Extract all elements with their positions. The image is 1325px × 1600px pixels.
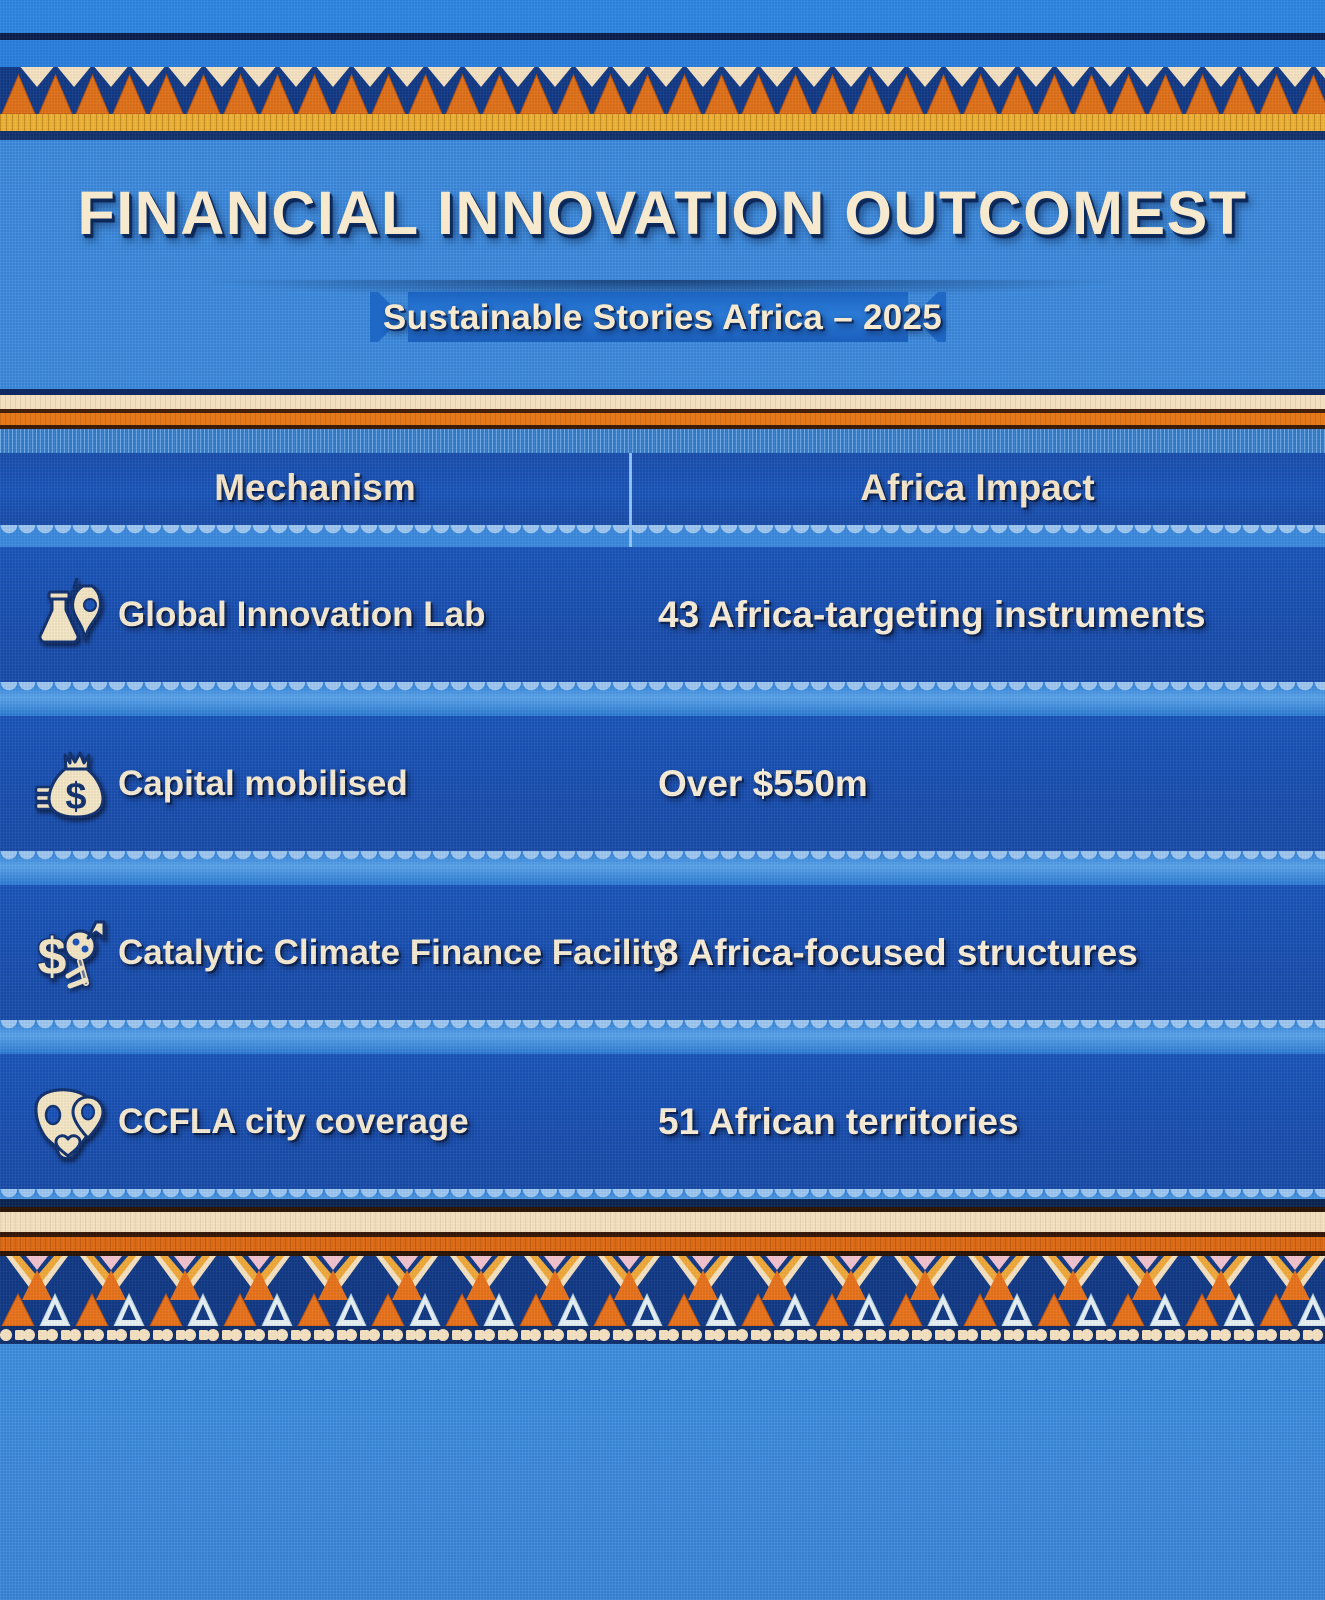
top-navy-line-1 [0, 33, 1325, 40]
cell-africa-impact: Over $550m [630, 716, 1325, 851]
bottom-dots-svg [0, 1326, 1325, 1344]
row-separator [0, 851, 1325, 885]
mechanism-label: CCFLA city coverage [118, 1102, 469, 1142]
row-separator [0, 682, 1325, 716]
row-separator-scallop [0, 682, 1325, 704]
cell-africa-impact: 8 Africa-focused structures [630, 885, 1325, 1020]
top-border-pattern [0, 0, 1325, 140]
top-navy-line-2 [0, 131, 1325, 140]
mid-divider [0, 389, 1325, 429]
page-subtitle: Sustainable Stories Africa – 2025 [0, 298, 1325, 338]
footer-weave-texture [0, 1344, 1325, 1600]
data-table: Mechanism Africa Impact Global Innovatio… [0, 429, 1325, 1199]
bottom-border-pattern [0, 1199, 1325, 1344]
bottom-orange-band [0, 1237, 1325, 1251]
mechanism-label: Capital mobilised [118, 764, 408, 804]
cell-africa-impact: 43 Africa-targeting instruments [630, 547, 1325, 682]
row-separator-scallop [0, 851, 1325, 873]
impact-value: Over $550m [658, 763, 868, 805]
impact-value: 43 Africa-targeting instruments [658, 594, 1206, 636]
row-separator-scallop [0, 1020, 1325, 1042]
mechanism-label: Global Innovation Lab [118, 595, 486, 635]
top-blue-band-lower [0, 40, 1325, 67]
table-row[interactable]: $ Catalytic Climate Finance Facility8 Af… [0, 885, 1325, 1020]
bottom-cream-band [0, 1212, 1325, 1232]
page-title: FINANCIAL INNOVATION OUTCOMEST [0, 178, 1325, 248]
footer-fabric-area [0, 1344, 1325, 1600]
infographic-page: FINANCIAL INNOVATION OUTCOMEST Sustainab… [0, 0, 1325, 1600]
impact-value: 8 Africa-focused structures [658, 932, 1138, 974]
column-header-africa-impact: Africa Impact [630, 467, 1325, 509]
top-blue-band-upper [0, 0, 1325, 33]
bottom-navy-line [0, 1199, 1325, 1207]
cell-mechanism: Global Innovation Lab [0, 547, 630, 682]
table-top-light-band [0, 429, 1325, 453]
cell-mechanism: Catalytic Climate Finance Facility [0, 885, 630, 1020]
table-body: Global Innovation Lab43 Africa-targeting… [0, 525, 1325, 1223]
bottom-kente-svg [0, 1256, 1325, 1326]
row-separator [0, 1020, 1325, 1054]
table-row[interactable]: Global Innovation Lab43 Africa-targeting… [0, 547, 1325, 682]
bottom-kente-band [0, 1256, 1325, 1326]
cell-mechanism: Capital mobilised [0, 716, 630, 851]
top-triangle-band [0, 67, 1325, 114]
cell-africa-impact: 51 African territories [630, 1054, 1325, 1189]
top-triangle-svg [0, 67, 1325, 114]
column-header-mechanism: Mechanism [0, 467, 630, 509]
table-row[interactable]: CCFLA city coverage51 African territorie… [0, 1054, 1325, 1189]
title-section: FINANCIAL INNOVATION OUTCOMEST Sustainab… [0, 140, 1325, 389]
bottom-dot-band [0, 1326, 1325, 1344]
impact-value: 51 African territories [658, 1101, 1019, 1143]
cell-mechanism: CCFLA city coverage [0, 1054, 630, 1189]
top-gold-band [0, 114, 1325, 131]
mid-orange-band [0, 413, 1325, 425]
mid-cream-band [0, 395, 1325, 409]
table-header-row: Mechanism Africa Impact [0, 453, 1325, 525]
header-scallop-divider [0, 525, 1325, 547]
table-row[interactable]: $ Capital mobilisedOver $550m [0, 716, 1325, 851]
mechanism-label: Catalytic Climate Finance Facility [118, 933, 672, 973]
